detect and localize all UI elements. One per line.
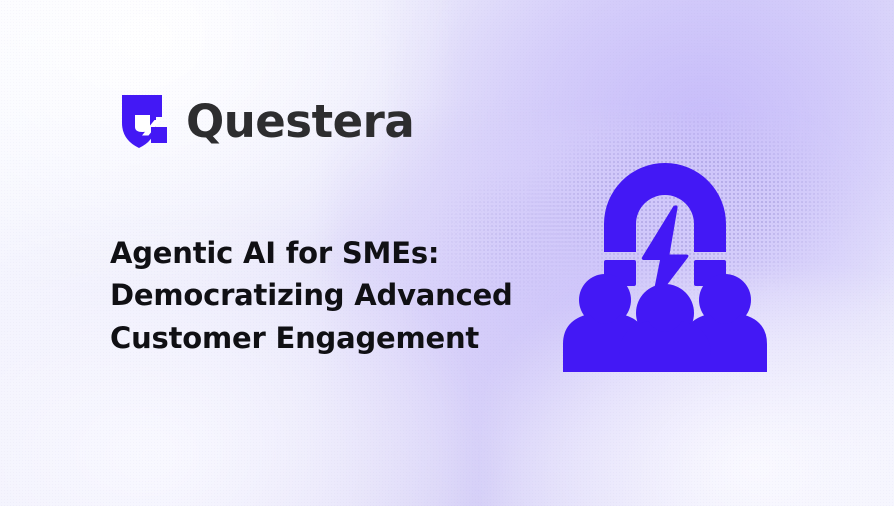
- page-title-line-3: Customer Engagement: [110, 317, 540, 359]
- people-group-icon: [563, 274, 767, 372]
- page-title-line-1: Agentic AI for SMEs:: [110, 232, 540, 274]
- page-title-line-2: Democratizing Advanced: [110, 274, 540, 316]
- page-title: Agentic AI for SMEs: Democratizing Advan…: [110, 232, 540, 359]
- questera-shield-mark-icon: [120, 93, 172, 150]
- magnet-attracting-customers-illustration: [549, 148, 781, 372]
- brand-logo-lockup: Questera: [120, 93, 414, 150]
- questera-title-banner: Questera Agentic AI for SMEs: Democratiz…: [0, 0, 894, 506]
- brand-wordmark: Questera: [186, 99, 414, 144]
